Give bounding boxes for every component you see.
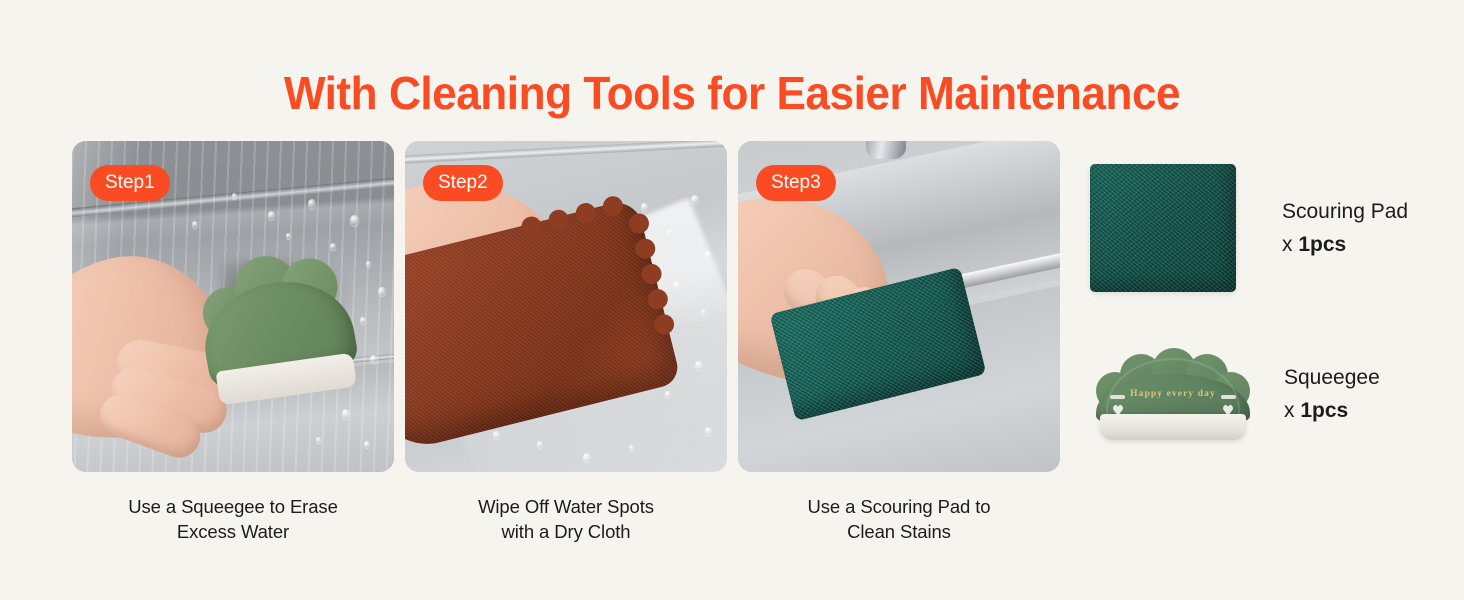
step-caption-2-line2: with a Dry Cloth	[405, 519, 727, 544]
included-products: Scouring Pad x 1pcs Happy every day	[1090, 150, 1450, 470]
steps-row: Step1 Use a Squeegee to Erase Excess Wat…	[72, 141, 1060, 541]
qty-prefix: x	[1282, 233, 1293, 256]
faucet-base	[866, 141, 906, 159]
squeegee-qty: x 1pcs	[1284, 396, 1380, 425]
qty-value: 1pcs	[1300, 399, 1348, 422]
scouring-pad-qty: x 1pcs	[1282, 230, 1408, 259]
product-scouring-pad: Scouring Pad x 1pcs	[1090, 164, 1408, 292]
step-caption-3-line2: Clean Stains	[738, 519, 1060, 544]
squeegee-engraved-text: Happy every day	[1090, 389, 1256, 399]
scouring-pad-art	[1090, 164, 1236, 292]
squeegee-image: Happy every day	[1090, 348, 1256, 440]
step-card-1: Step1 Use a Squeegee to Erase Excess Wat…	[72, 141, 394, 541]
scouring-pad-image	[1090, 164, 1236, 292]
scouring-pad-text: Scouring Pad x 1pcs	[1282, 197, 1408, 259]
step-caption-3: Use a Scouring Pad to Clean Stains	[738, 494, 1060, 544]
step-badge-2: Step2	[423, 165, 503, 201]
scouring-pad-name: Scouring Pad	[1282, 197, 1408, 226]
squeegee-blade	[1100, 414, 1246, 440]
step-caption-1-line2: Excess Water	[72, 519, 394, 544]
squeegee-tool	[190, 237, 361, 393]
step-photo-2: Step2	[405, 141, 727, 472]
qty-value: 1pcs	[1298, 233, 1346, 256]
step-badge-3: Step3	[756, 165, 836, 201]
qty-prefix: x	[1284, 399, 1295, 422]
squeegee-text: Squeegee x 1pcs	[1284, 363, 1380, 425]
step-badge-1: Step1	[90, 165, 170, 201]
step-caption-2: Wipe Off Water Spots with a Dry Cloth	[405, 494, 727, 544]
step-photo-3: Step3	[738, 141, 1060, 472]
squeegee-art: Happy every day	[1090, 348, 1256, 440]
product-squeegee: Happy every day Squeegee x 1pcs	[1090, 348, 1380, 440]
step-card-3: Step3 Use a Scouring Pad to Clean Stains	[738, 141, 1060, 541]
step-caption-2-line1: Wipe Off Water Spots	[478, 496, 654, 517]
step-caption-3-line1: Use a Scouring Pad to	[807, 496, 990, 517]
page-title: With Cleaning Tools for Easier Maintenan…	[29, 64, 1434, 122]
step-photo-1: Step1	[72, 141, 394, 472]
squeegee-name: Squeegee	[1284, 363, 1380, 392]
step-caption-1-line1: Use a Squeegee to Erase	[128, 496, 338, 517]
step-caption-1: Use a Squeegee to Erase Excess Water	[72, 494, 394, 544]
step-card-2: Step2 Wipe Off Water Spots with a Dry Cl…	[405, 141, 727, 541]
